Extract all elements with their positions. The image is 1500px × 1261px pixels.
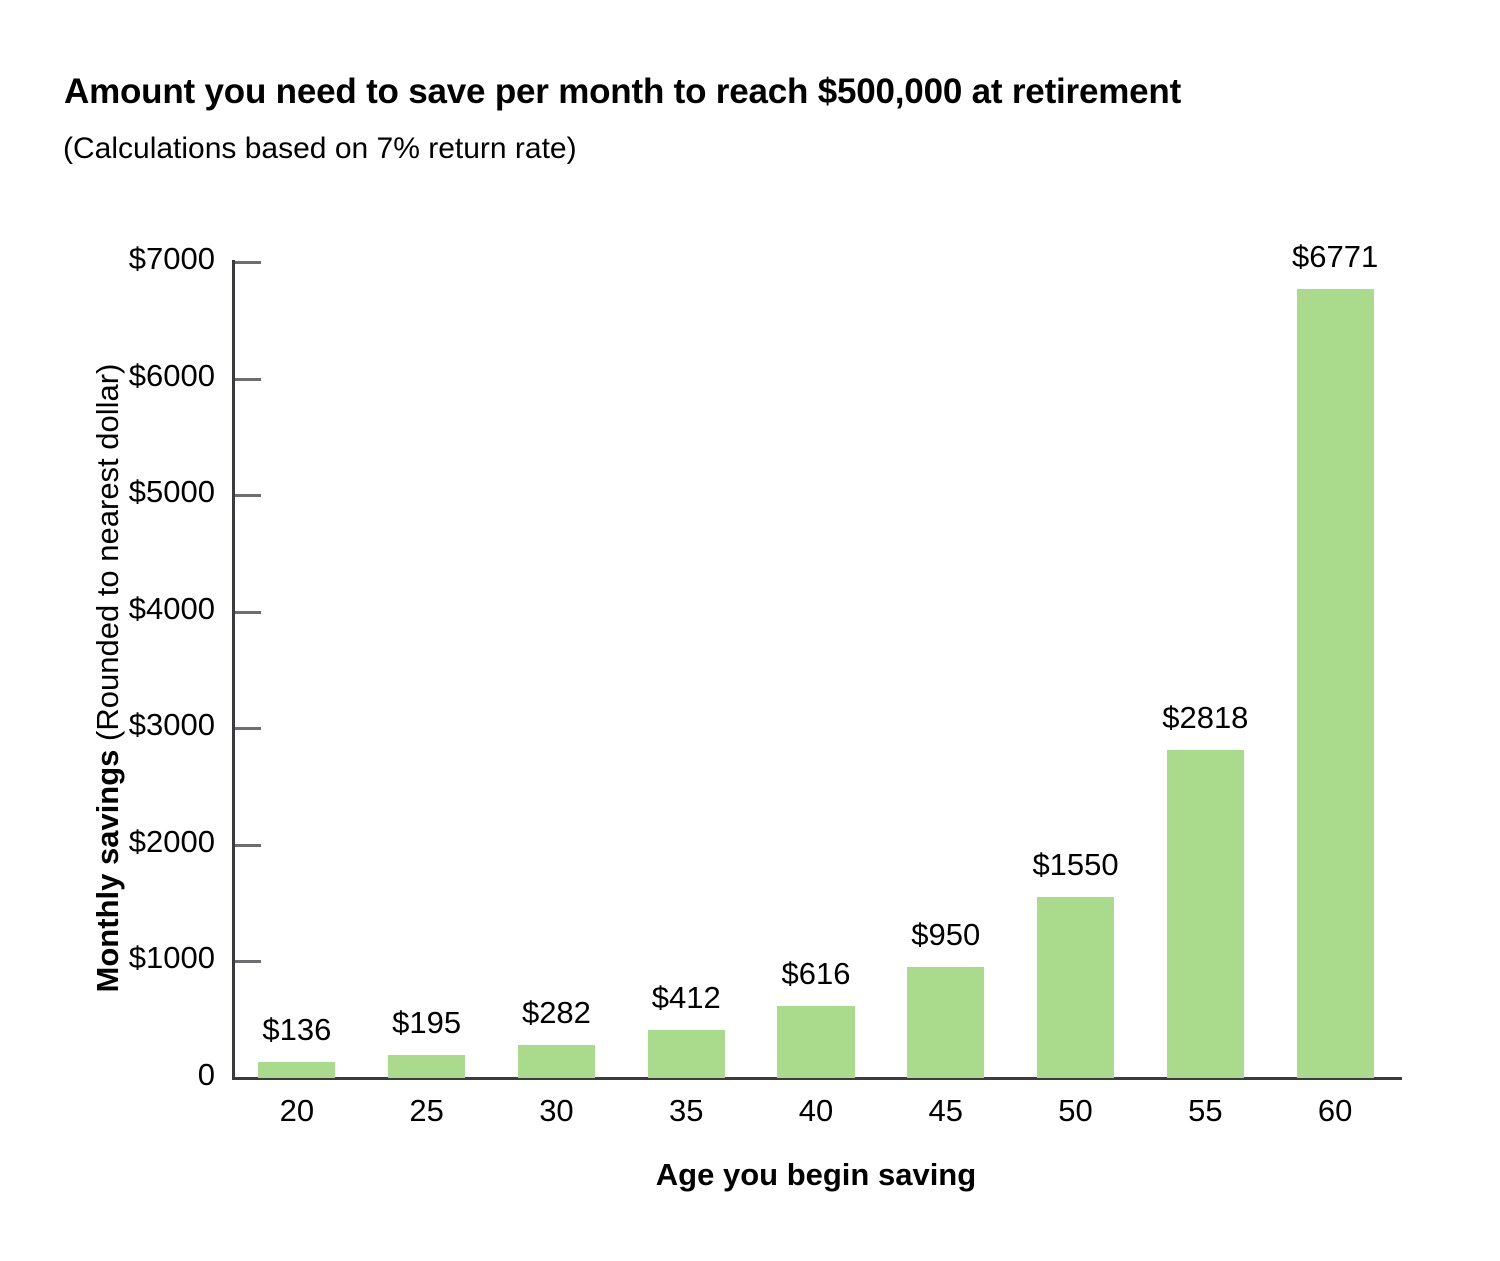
x-tick-label: 25 <box>362 1093 492 1129</box>
bar[interactable] <box>1037 897 1114 1078</box>
x-tick-label: 30 <box>491 1093 621 1129</box>
bar[interactable] <box>1167 750 1244 1078</box>
x-tick-label: 40 <box>751 1093 881 1129</box>
x-tick-label: 20 <box>232 1093 362 1129</box>
y-tick-label: $3000 <box>129 707 215 743</box>
bar[interactable] <box>518 1045 595 1078</box>
y-tick-label: $2000 <box>129 824 215 860</box>
chart-subtitle: (Calculations based on 7% return rate) <box>63 132 577 166</box>
y-tick-label: $7000 <box>129 241 215 277</box>
x-tick-label: 60 <box>1270 1093 1400 1129</box>
bar-value-label: $2818 <box>1105 700 1305 736</box>
x-tick-label: 55 <box>1140 1093 1270 1129</box>
bar[interactable] <box>388 1055 465 1078</box>
y-axis-title: Monthly savings (Rounded to nearest doll… <box>90 248 126 1108</box>
bar[interactable] <box>1297 289 1374 1078</box>
bar[interactable] <box>648 1030 725 1078</box>
y-axis-title-bold: Monthly savings <box>90 750 125 993</box>
y-tick-label: $5000 <box>129 474 215 510</box>
bar-value-label: $616 <box>716 956 916 992</box>
bar-chart: Amount you need to save per month to rea… <box>0 0 1500 1261</box>
bar[interactable] <box>258 1062 335 1078</box>
y-axis-title-regular: (Rounded to nearest dollar) <box>90 364 125 750</box>
y-tick-label: $4000 <box>129 591 215 627</box>
bar-value-label: $1550 <box>976 847 1176 883</box>
bar-value-label: $6771 <box>1235 239 1435 275</box>
x-tick-label: 45 <box>881 1093 1011 1129</box>
y-tick-label: $6000 <box>129 358 215 394</box>
bar-value-label: $950 <box>846 917 1046 953</box>
bar[interactable] <box>777 1006 854 1078</box>
y-tick-label: 0 <box>198 1057 215 1093</box>
x-tick-label: 35 <box>621 1093 751 1129</box>
bar[interactable] <box>907 967 984 1078</box>
chart-title: Amount you need to save per month to rea… <box>64 72 1181 112</box>
y-tick-label: $1000 <box>129 940 215 976</box>
x-tick-label: 50 <box>1011 1093 1141 1129</box>
x-axis-title: Age you begin saving <box>232 1157 1400 1193</box>
